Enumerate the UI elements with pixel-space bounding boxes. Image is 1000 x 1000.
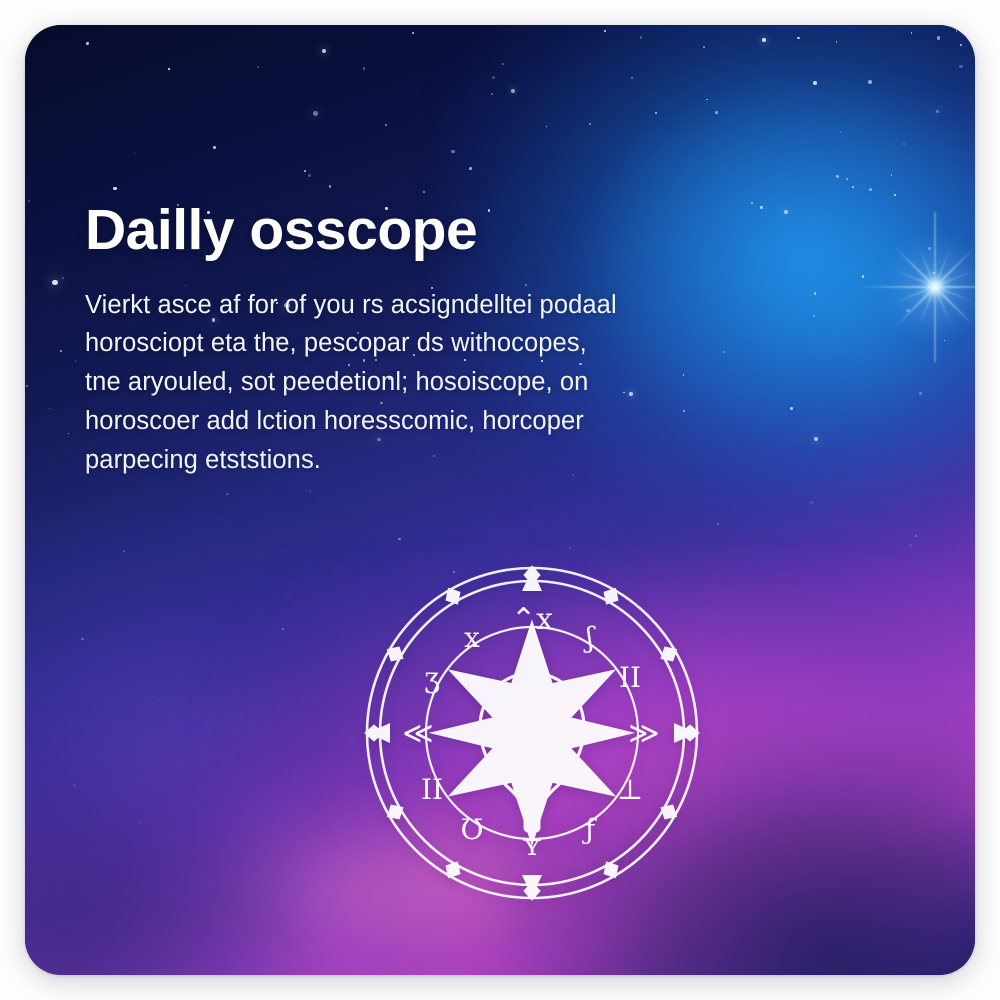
star-dot (797, 37, 799, 39)
star-dot (49, 408, 50, 409)
glyph-pisces-like: ⅠⅠ (421, 773, 443, 806)
star-dot (868, 80, 872, 84)
glyph-libra-like: ≪ (402, 716, 433, 751)
description-line-5: parpecing etststions. (85, 441, 705, 480)
star-dot (168, 68, 170, 70)
star-dot (869, 188, 872, 191)
glyph-virgo-like: ʒ (424, 661, 440, 694)
star-dot (511, 89, 515, 93)
star-dot (589, 123, 591, 125)
glyph-sagittarius-like: Ʊ (460, 813, 483, 846)
star-dot (363, 67, 365, 69)
star-dot (423, 191, 425, 193)
star-dot (911, 32, 913, 34)
star-dot (703, 46, 705, 48)
star-dot (52, 280, 58, 286)
star-dot (790, 407, 793, 410)
star-dot (412, 32, 414, 34)
star-dot (123, 550, 125, 552)
star-dot (810, 501, 813, 504)
star-dot (846, 178, 848, 180)
star-dot (813, 81, 817, 85)
glyph-gemini-like: ⅠⅠ (619, 661, 641, 694)
glyph-leo-like: ʃ (583, 621, 596, 654)
star-dot (909, 544, 912, 547)
card-content: Dailly osscope Vierkt asce af for of you… (85, 200, 705, 479)
star-dot (915, 535, 917, 537)
screenshot-stage: Dailly osscope Vierkt asce af for of you… (0, 0, 1000, 1000)
star-dot (546, 126, 548, 128)
star-dot (715, 111, 718, 114)
star-dot (282, 628, 284, 630)
star-dot (398, 538, 401, 541)
star-dot (569, 547, 571, 549)
star-dot (631, 77, 633, 79)
star-dot (813, 315, 815, 317)
star-dot (469, 167, 472, 170)
star-dot (62, 277, 64, 279)
star-dot (213, 146, 216, 149)
star-dot (960, 44, 962, 46)
star-dot (928, 247, 931, 250)
glyph-cancer-like: x (464, 621, 480, 654)
description-line-3: tne aryouled, sot peedetionl; hosoiscope… (85, 363, 705, 402)
star-dot (891, 174, 893, 176)
star-dot (502, 63, 504, 65)
star-dot (28, 200, 30, 202)
star-dot (308, 174, 311, 177)
star-dot (956, 30, 958, 32)
star-dot (604, 30, 606, 32)
star-dot (894, 194, 896, 196)
star-dot (26, 385, 28, 387)
page-title: Dailly osscope (85, 200, 705, 262)
star-dot (329, 185, 332, 188)
star-dot (451, 150, 454, 153)
star-dot (68, 433, 70, 435)
star-dot (762, 38, 766, 42)
star-dot (944, 340, 946, 342)
horoscope-card: Dailly osscope Vierkt asce af for of you… (25, 25, 975, 975)
star-dot (138, 821, 141, 824)
star-dot (640, 36, 643, 39)
description-line-2: horosciopt eta the, pescopar ds withocop… (85, 324, 705, 363)
star-dot (836, 175, 839, 178)
star-dot (226, 493, 229, 496)
star-dot (304, 170, 306, 172)
star-dot (135, 152, 137, 154)
star-dot (814, 292, 817, 295)
star-dot (322, 49, 326, 53)
star-dot (655, 112, 657, 114)
star-dot (717, 523, 719, 525)
star-dot (313, 111, 318, 116)
star-dot (840, 131, 842, 133)
star-dot (836, 41, 838, 43)
glyph-aries-like: ≫ (628, 716, 659, 751)
star-dot (959, 65, 962, 68)
star-dot (309, 490, 311, 492)
star-dot (75, 360, 77, 362)
star-dot (814, 437, 818, 441)
star-dot (60, 350, 62, 352)
glyph-taurus-like: ⊥ (617, 773, 643, 806)
description-line-1: Vierkt asce af for of you rs acsigndellt… (85, 286, 705, 325)
star-dot (933, 272, 935, 274)
star-dot (491, 93, 493, 95)
star-dot (86, 42, 89, 45)
description-line-4: horoscoer add lction horesscomic, horcop… (85, 402, 705, 441)
zodiac-wheel-emblem: ⌃x ʃ ⅠⅠ ≫ ⊥ ƒ ʏ Ʊ ⅠⅠ ≪ ʒ x (362, 563, 702, 903)
star-dot (723, 351, 725, 353)
star-dot (73, 784, 76, 787)
star-dot (760, 206, 762, 208)
star-dot (706, 99, 708, 101)
star-dot (113, 187, 116, 190)
star-dot (949, 277, 951, 279)
card-description: Vierkt asce af for of you rs acsigndellt… (85, 286, 705, 480)
star-dot (937, 36, 940, 39)
star-dot (936, 110, 940, 114)
star-dot (81, 638, 84, 641)
star-dot (157, 699, 159, 701)
star-dot (492, 76, 495, 79)
star-dot (385, 124, 387, 126)
star-dot (919, 392, 922, 395)
star-dot (852, 186, 854, 188)
star-dot (903, 143, 905, 145)
star-dot (862, 275, 865, 278)
star-dot (257, 66, 259, 68)
star-dot (751, 202, 753, 204)
star-dot (784, 210, 788, 214)
star-dot (200, 769, 202, 771)
star-dot (906, 309, 910, 313)
